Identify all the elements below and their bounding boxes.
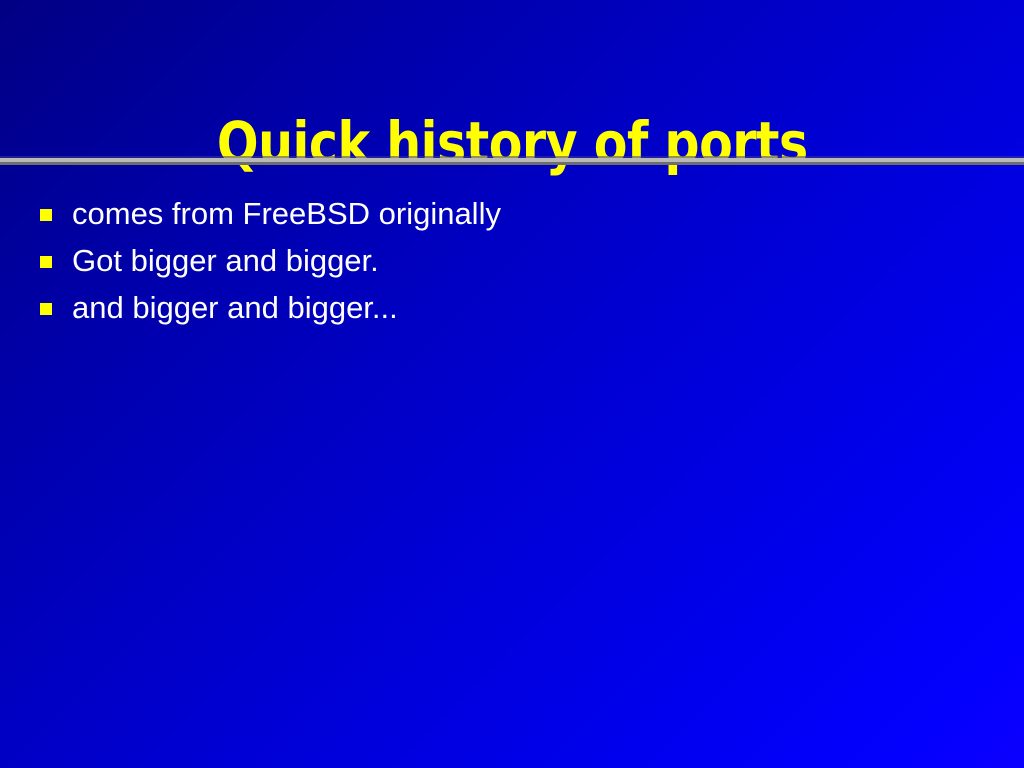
page-title: Quick history of ports (217, 111, 808, 175)
list-item: comes from FreeBSD originally (36, 196, 986, 231)
square-bullet-icon (40, 303, 52, 315)
list-item: Got bigger and bigger. (36, 243, 986, 278)
list-item-label: Got bigger and bigger. (72, 243, 379, 278)
square-bullet-icon (40, 256, 52, 268)
slide-title-block: Quick history of ports (0, 72, 1024, 214)
list-item-label: comes from FreeBSD originally (72, 196, 501, 231)
divider-top-edge (0, 156, 1024, 158)
list-item: and bigger and bigger... (36, 290, 986, 325)
bullet-list: comes from FreeBSD originally Got bigger… (36, 196, 986, 337)
title-divider (0, 156, 1024, 165)
divider-shadow (0, 162, 1024, 165)
square-bullet-icon (40, 209, 52, 221)
presentation-slide: Quick history of ports comes from FreeBS… (0, 0, 1024, 768)
list-item-label: and bigger and bigger... (72, 290, 398, 325)
